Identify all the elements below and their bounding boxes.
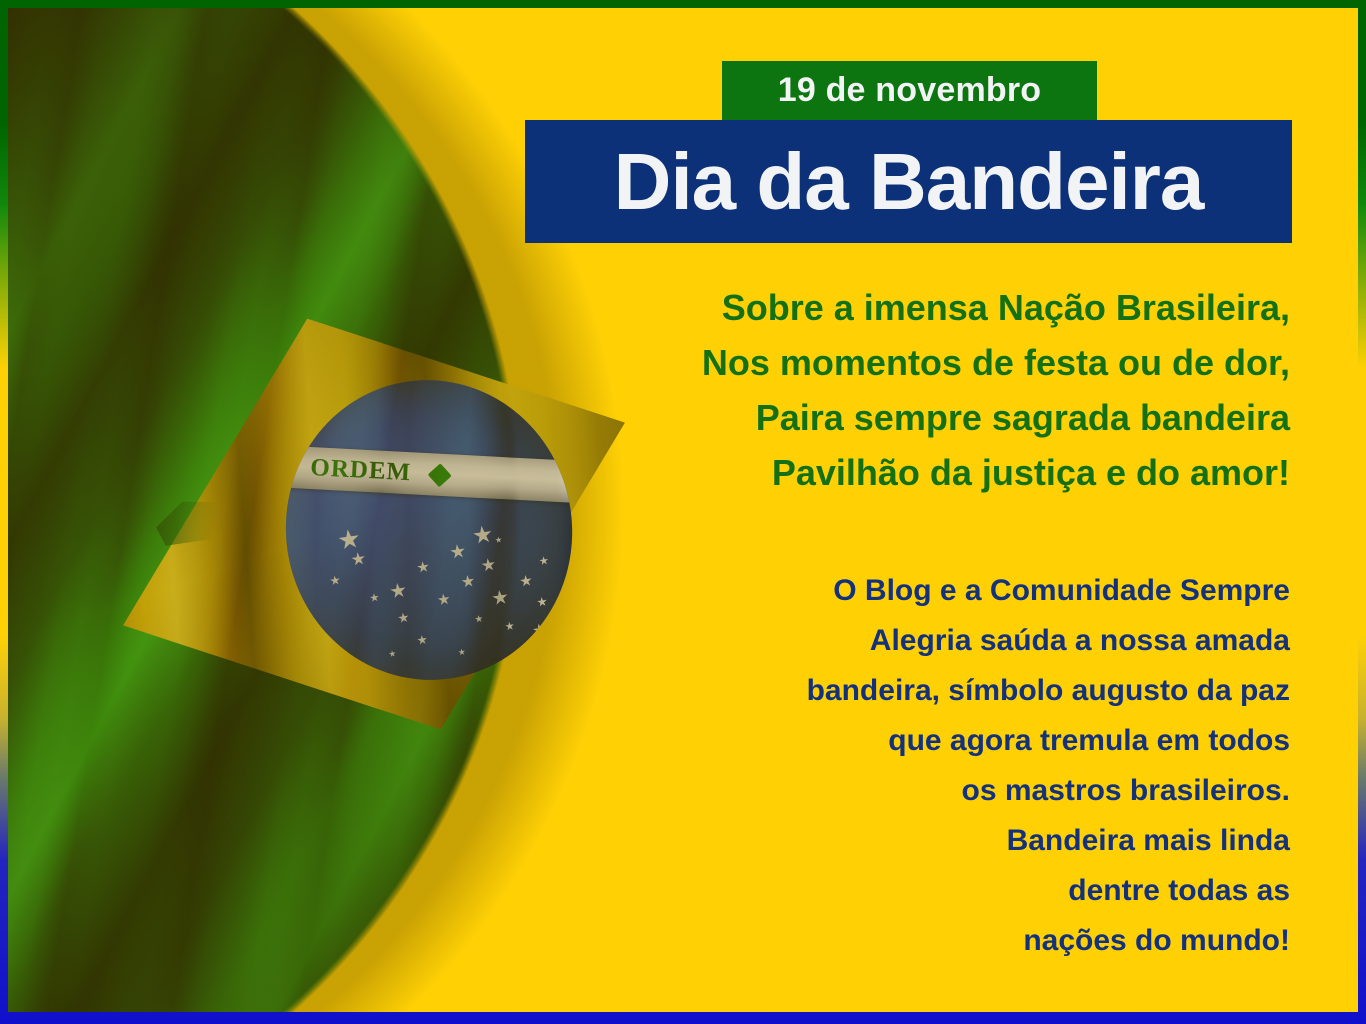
- poster-frame: ORDEM 19 de novembro Dia da Bandeira Sob…: [0, 0, 1366, 1024]
- message-line: O Blog e a Comunidade Sempre: [648, 566, 1290, 616]
- poem-line: Pavilhão da justiça e do amor!: [538, 445, 1290, 500]
- flag-star: [337, 528, 361, 552]
- page-title: Dia da Bandeira: [614, 142, 1204, 222]
- date-badge-label: 19 de novembro: [778, 71, 1042, 110]
- flag-star: [461, 574, 476, 589]
- flag-star: [416, 560, 430, 574]
- message-line: dentre todas as: [648, 866, 1290, 916]
- flag-star: [449, 543, 466, 560]
- flag-star: [389, 582, 407, 600]
- flag-star: [536, 596, 547, 607]
- title-banner: Dia da Bandeira: [525, 120, 1292, 243]
- date-badge: 19 de novembro: [722, 61, 1097, 120]
- flag-star: [491, 589, 509, 607]
- flag-star: [481, 557, 497, 573]
- flag-star: [495, 536, 503, 544]
- message-line: Bandeira mais linda: [648, 816, 1290, 866]
- flag-sash-diamond-icon: [428, 463, 452, 487]
- flag-star: [437, 593, 451, 607]
- flag-motto-text: ORDEM: [310, 454, 412, 487]
- flag-star: [350, 551, 366, 567]
- message-line: os mastros brasileiros.: [648, 766, 1290, 816]
- flag-star: [474, 614, 483, 623]
- message-line: Alegria saúda a nossa amada: [648, 616, 1290, 666]
- flag-star: [458, 648, 466, 656]
- message-block: O Blog e a Comunidade SempreAlegria saúd…: [648, 566, 1290, 966]
- message-line: que agora tremula em todos: [648, 716, 1290, 766]
- flag-star: [329, 575, 340, 586]
- poem-line: Paira sempre sagrada bandeira: [538, 390, 1290, 445]
- flag-star: [397, 612, 409, 624]
- flag-star: [519, 574, 533, 588]
- flag-star: [532, 623, 547, 638]
- message-line: nações do mundo!: [648, 916, 1290, 966]
- flag-star: [388, 650, 396, 658]
- poster-canvas: ORDEM 19 de novembro Dia da Bandeira Sob…: [8, 8, 1358, 1012]
- poem-block: Sobre a imensa Nação Brasileira,Nos mome…: [538, 280, 1290, 500]
- flag-star: [417, 634, 428, 645]
- poem-line: Nos momentos de festa ou de dor,: [538, 335, 1290, 390]
- flag-star: [505, 621, 515, 631]
- flag-star: [539, 556, 549, 566]
- flag-star: [472, 524, 493, 545]
- message-line: bandeira, símbolo augusto da paz: [648, 666, 1290, 716]
- flag-star: [369, 593, 379, 603]
- poem-line: Sobre a imensa Nação Brasileira,: [538, 280, 1290, 335]
